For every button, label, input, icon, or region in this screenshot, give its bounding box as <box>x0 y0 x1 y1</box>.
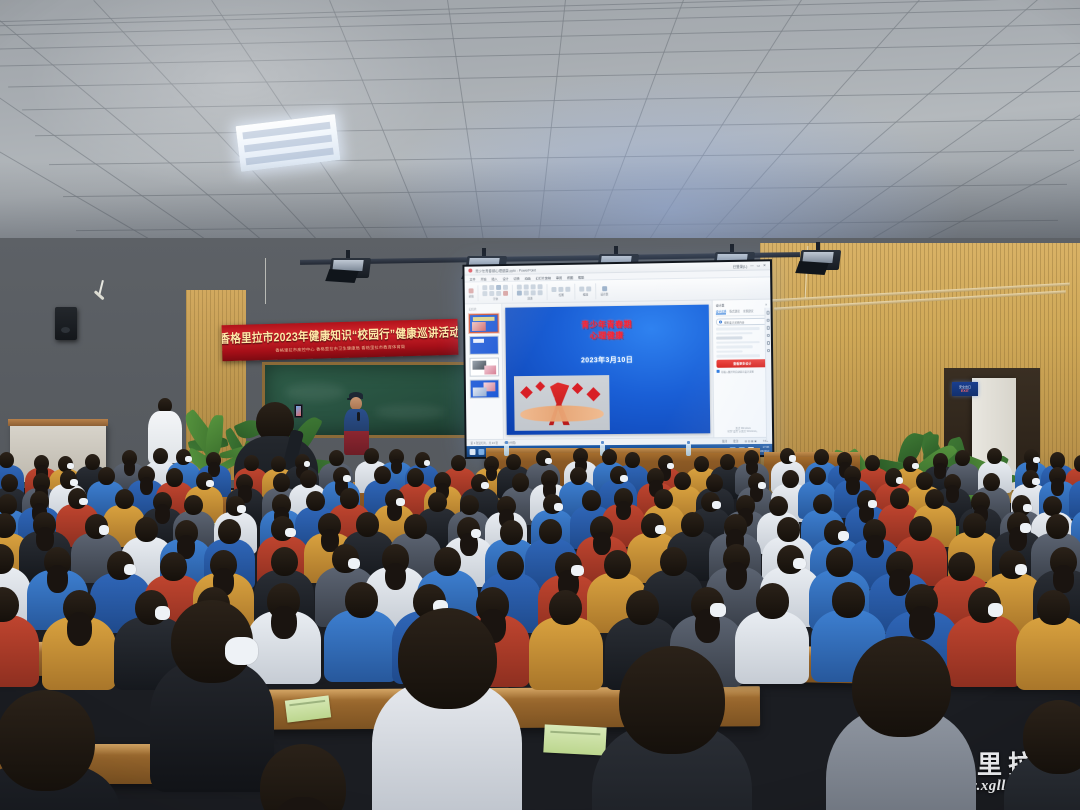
face-mask <box>758 482 766 489</box>
foreground-student <box>372 608 522 764</box>
face-mask <box>124 564 136 575</box>
smartphone <box>294 404 303 418</box>
search-icon <box>719 320 722 323</box>
face-mask <box>620 475 628 482</box>
face-mask <box>99 525 110 534</box>
student-head <box>398 608 497 709</box>
face-mask <box>67 463 74 469</box>
face-mask <box>481 482 489 489</box>
student-head <box>720 454 735 470</box>
wall-speaker <box>55 307 77 340</box>
designer-result-line <box>716 336 742 339</box>
student-head <box>356 512 379 537</box>
slide-title-line2: 心理健康 <box>506 330 710 344</box>
student-head <box>782 470 799 488</box>
ribbon-group-paragraph[interactable]: 段落 <box>517 284 543 300</box>
face-mask <box>185 456 192 462</box>
student-ponytail <box>1051 478 1064 495</box>
student-head <box>329 450 344 466</box>
ceiling-light-tint <box>0 0 1080 268</box>
slide-thumbnail-3[interactable] <box>469 357 499 376</box>
student-head <box>539 519 562 544</box>
stage-light <box>330 250 370 284</box>
rail-icon[interactable] <box>767 341 771 345</box>
student-head <box>340 488 359 509</box>
ribbon-group-label: 粘贴 <box>469 294 474 298</box>
banner-sub-text: 香格里拉市疾控中心 香格里拉市卫生健康局 香格里拉市教育体育局 <box>275 344 405 354</box>
ribbon-tab[interactable]: 幻灯片放映 <box>536 275 551 280</box>
face-mask <box>710 603 725 617</box>
ribbon-tab[interactable]: 文件 <box>469 276 475 281</box>
student-head <box>98 467 115 485</box>
student-body <box>0 615 39 688</box>
designer-checkbox-label: 在插入图片时自动显示设计灵感 <box>721 369 754 373</box>
slide-editing-area[interactable]: 青少年青春期 心理健康 2023年3月10日 <box>502 301 713 439</box>
face-mask <box>396 498 405 506</box>
ribbon-tab[interactable]: 开始 <box>480 276 486 281</box>
ribbon-group-label: 设计器 <box>600 292 608 296</box>
student-head <box>244 455 259 471</box>
slide-title-text: 青少年青春期 心理健康 <box>505 319 709 343</box>
student-head <box>694 456 709 472</box>
notes-button[interactable]: 备注 <box>722 439 727 443</box>
face-mask <box>988 603 1003 617</box>
banner-main-text: 香格里拉市2023年健康知识“校园行”健康巡讲活动 <box>222 324 459 348</box>
student-head <box>497 551 524 580</box>
student-head <box>582 490 601 511</box>
student-head <box>404 514 427 539</box>
student-head <box>769 496 788 517</box>
foreground-student <box>150 600 274 732</box>
foreground-student <box>1004 700 1080 810</box>
student-head <box>166 468 183 486</box>
water-bottle <box>686 444 691 456</box>
slide-counter: 第 1 张幻灯片，共 24 张 <box>470 441 498 445</box>
designer-tab-inspiration[interactable]: 设计灵感 <box>716 309 727 314</box>
ribbon-tab[interactable]: 切换 <box>513 275 519 280</box>
ribbon-tab[interactable]: 动画 <box>525 275 531 280</box>
powerpoint-window: 青少年青春期心理健康.pptx - PowerPoint 已登录(L) — ▭ … <box>464 261 772 457</box>
face-mask <box>554 503 563 511</box>
student-head <box>626 590 659 626</box>
ribbon-group-drawing[interactable]: 绘图 <box>552 286 571 296</box>
microphone <box>357 412 360 421</box>
student-head <box>1046 514 1069 539</box>
stage-light <box>800 242 840 276</box>
designer-pane[interactable]: 设计器 ✕ 设计灵感 版式建议 主题建议 搜索设计灵感内容 <box>712 300 772 438</box>
ribbon-group-label: 编辑 <box>583 292 588 296</box>
student-head <box>681 512 704 537</box>
student-head <box>832 582 865 618</box>
student-head <box>809 467 826 485</box>
face-mask <box>838 531 849 540</box>
face-mask <box>789 455 796 461</box>
face-mask <box>655 525 666 534</box>
slide-thumbnail-4[interactable] <box>469 379 499 398</box>
designer-result-line <box>716 354 760 357</box>
rail-icon[interactable] <box>767 333 771 337</box>
comments-button[interactable]: 批注 <box>733 439 738 443</box>
current-slide[interactable]: 青少年青春期 心理健康 2023年3月10日 <box>505 305 710 435</box>
student-head <box>549 590 582 626</box>
rail-icon[interactable] <box>767 349 771 353</box>
ppt-app-title: 青少年青春期心理健康.pptx - PowerPoint <box>475 267 536 273</box>
student-head <box>660 547 687 576</box>
face-mask <box>348 558 360 569</box>
ribbon-tab[interactable]: 设计 <box>502 275 508 280</box>
student-head <box>1 474 18 492</box>
heart-icon <box>536 381 546 391</box>
foreground-student <box>592 646 752 810</box>
audience-student <box>0 587 39 695</box>
student-head <box>218 519 241 544</box>
audience-student <box>42 590 116 698</box>
ribbon-group-designer[interactable]: 设计器 <box>600 286 608 296</box>
face-mask <box>471 529 482 538</box>
student-head <box>925 489 944 510</box>
designer-search-box[interactable]: 搜索设计灵感内容 <box>716 318 768 326</box>
ribbon-group-label: 字体 <box>493 296 498 300</box>
student-ponytail <box>909 606 935 640</box>
student-head <box>1037 590 1070 626</box>
designer-section-label-bar <box>716 341 760 344</box>
student-head <box>512 473 529 491</box>
face-mask <box>1033 457 1040 463</box>
ribbon-tab[interactable]: 审阅 <box>556 274 562 279</box>
student-head <box>135 517 158 542</box>
face-mask <box>571 565 583 576</box>
designer-search-placeholder: 搜索设计灵感内容 <box>724 320 744 324</box>
student-head <box>948 552 975 581</box>
designer-side-rail[interactable] <box>764 308 772 441</box>
slide-image-awareness-ribbon <box>514 375 610 431</box>
heart-icon <box>586 388 600 402</box>
photo-scene: 香格里拉市2023年健康知识“校园行”健康巡讲活动 香格里拉市疾控中心 香格里拉… <box>0 0 1080 810</box>
student-head <box>434 547 461 576</box>
minimize-button[interactable]: — <box>750 264 753 268</box>
face-mask <box>285 528 296 537</box>
maximize-button[interactable]: ▭ <box>757 263 760 267</box>
face-mask <box>1020 523 1031 532</box>
student-head <box>306 491 325 512</box>
face-mask <box>545 458 552 464</box>
student-head <box>300 470 317 488</box>
ribbon-tab[interactable]: 插入 <box>491 276 497 281</box>
designer-cta-button[interactable]: 查看更多设计 <box>716 359 768 368</box>
student-head <box>271 456 286 472</box>
student-head <box>500 520 523 545</box>
student-head <box>619 646 725 754</box>
designer-pane-title: 设计器 <box>716 303 725 307</box>
student-head <box>0 690 95 791</box>
close-button[interactable]: ✕ <box>763 263 766 267</box>
student-head <box>506 454 521 470</box>
search-icon[interactable] <box>478 448 484 454</box>
event-banner: 香格里拉市2023年健康知识“校园行”健康巡讲活动 香格里拉市疾控中心 香格里拉… <box>222 319 459 362</box>
student-head <box>852 636 951 737</box>
face-mask <box>70 479 78 486</box>
student-head <box>955 450 970 466</box>
activation-line2: 转到“设置”以激活 Windows。 <box>717 430 769 434</box>
student-head <box>460 495 479 516</box>
student-head <box>115 489 134 510</box>
designer-result-line <box>716 327 760 330</box>
ribbon-group-label: 绘图 <box>559 292 564 296</box>
designer-tab-layout[interactable]: 版式建议 <box>729 309 740 314</box>
designer-result-line <box>716 350 742 353</box>
student-head <box>777 517 800 542</box>
student-ponytail <box>271 606 297 640</box>
foreground-student <box>238 744 368 810</box>
thumbnail-pane-header: 幻灯片 <box>469 307 477 311</box>
account-label[interactable]: 已登录(L) <box>733 263 748 268</box>
designer-tab-theme[interactable]: 主题建议 <box>743 309 754 314</box>
rail-icon[interactable] <box>766 318 770 322</box>
student-head <box>826 547 853 576</box>
hanging-wire <box>265 258 266 304</box>
face-mask <box>868 500 877 508</box>
student-head <box>273 473 290 491</box>
foreground-student <box>0 690 120 810</box>
face-mask <box>793 558 805 569</box>
ribbon-tab[interactable]: 视图 <box>567 274 573 279</box>
rail-icon[interactable] <box>766 326 770 330</box>
ribbon-group-font[interactable]: 字体 <box>482 284 508 300</box>
projection-screen: 青少年青春期心理健康.pptx - PowerPoint 已登录(L) — ▭ … <box>462 259 774 459</box>
face-mask <box>225 637 258 665</box>
student-ponytail <box>1053 565 1074 593</box>
helping-hands-graphic <box>520 405 604 422</box>
student-head <box>909 516 932 541</box>
ribbon-group-label: 段落 <box>527 296 532 300</box>
ceiling <box>0 0 1080 268</box>
student-head <box>407 468 424 486</box>
student-head <box>428 492 447 513</box>
face-mask <box>896 477 904 484</box>
student-head <box>890 488 909 509</box>
ribbon-group-editing[interactable]: 编辑 <box>579 286 591 296</box>
ribbon-tab[interactable]: 帮助 <box>578 274 584 279</box>
student-head <box>1023 700 1080 774</box>
student-head <box>813 494 832 515</box>
slide-thumbnail-1[interactable] <box>468 314 498 333</box>
student-ponytail <box>67 612 93 646</box>
face-mask <box>206 480 214 487</box>
designer-pane-close-icon[interactable]: ✕ <box>765 303 768 307</box>
rail-icon[interactable] <box>766 311 770 315</box>
view-buttons[interactable]: ▤ ▥ ▦ ▣ <box>745 439 757 442</box>
student-head <box>160 552 187 581</box>
windows-start-icon[interactable] <box>470 449 476 455</box>
face-mask <box>1015 564 1027 575</box>
student-head <box>756 583 789 619</box>
presenter <box>340 392 374 456</box>
student-head <box>271 547 298 576</box>
student-head <box>570 467 587 485</box>
student-head <box>983 473 1000 491</box>
save-icon[interactable] <box>468 269 472 273</box>
foreground-student <box>826 636 976 810</box>
student-body <box>1016 617 1080 690</box>
heart-icon <box>571 383 582 394</box>
designer-autoshow-checkbox[interactable]: 在插入图片时自动显示设计灵感 <box>717 369 769 374</box>
slide-date-text: 2023年3月10日 <box>506 353 710 365</box>
designer-result-line <box>716 332 752 335</box>
windows-activation-notice: 激活 Windows 转到“设置”以激活 Windows。 <box>717 427 769 435</box>
ribbon-group-paste[interactable]: 粘贴 <box>469 288 474 298</box>
face-mask <box>343 475 351 482</box>
heart-icon <box>520 386 533 399</box>
designer-result-line <box>716 345 752 348</box>
student-head <box>604 550 631 579</box>
checkbox-icon <box>717 370 720 373</box>
slide-thumbnail-2[interactable] <box>469 336 499 355</box>
face-mask <box>424 460 431 466</box>
student-head <box>0 494 17 515</box>
face-mask <box>237 505 246 513</box>
student-head <box>987 448 1002 464</box>
slide-thumbnail-pane[interactable]: 幻灯片 <box>465 304 504 439</box>
face-mask <box>712 501 721 509</box>
audience-student <box>1016 590 1080 698</box>
ppt-workspace: 幻灯片 <box>465 300 772 440</box>
student-head <box>963 513 986 538</box>
